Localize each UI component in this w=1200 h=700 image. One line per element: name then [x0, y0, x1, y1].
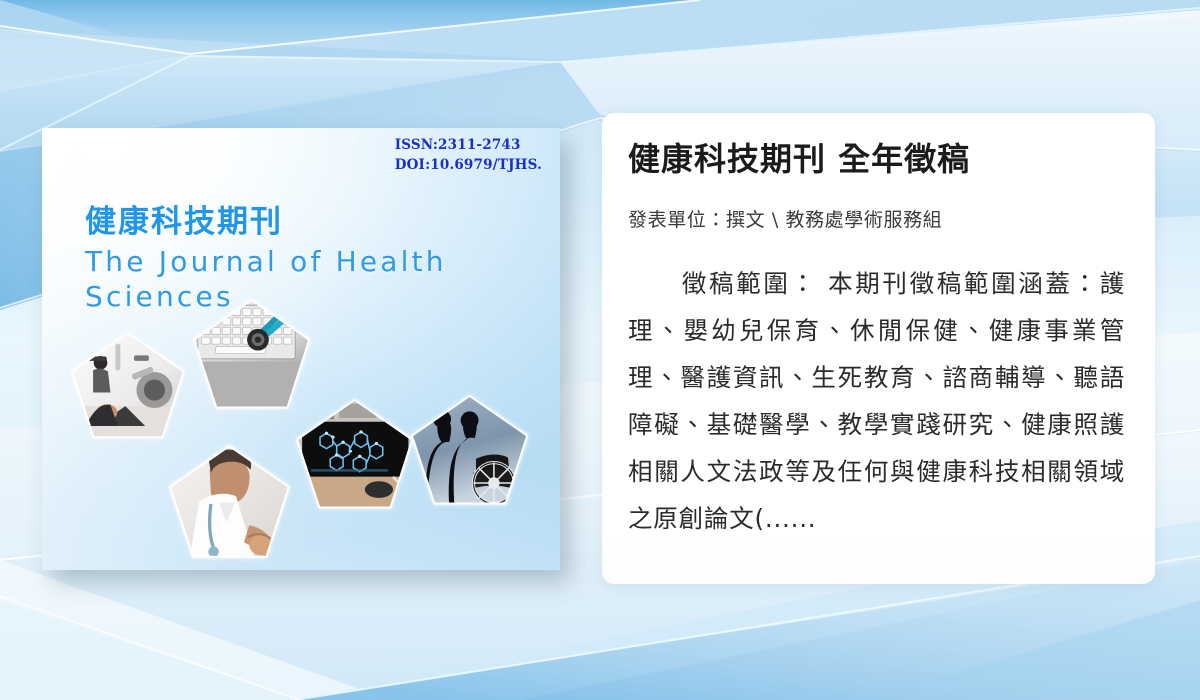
- journal-cover[interactable]: ISSN:2311-2743 DOI:10.6979/TJHS. 健康科技期刊 …: [42, 128, 560, 570]
- fitness-gym-photo: [72, 333, 184, 437]
- article-excerpt: 徵稿範圍： 本期刊徵稿範圍涵蓋：護理、嬰幼兒保育、休閒保健、健康事業管理、醫護資…: [628, 260, 1125, 542]
- article-panel: 健康科技期刊 全年徵稿 發表單位：撰文 \ 教務處學術服務組 徵稿範圍： 本期刊…: [602, 113, 1155, 584]
- page-title: 健康科技期刊 全年徵稿: [628, 139, 1125, 179]
- byline: 發表單位：撰文 \ 教務處學術服務組: [628, 207, 1125, 234]
- molecular-screen-photo: [297, 400, 412, 508]
- wheelchair-care-photo: [412, 396, 527, 504]
- journal-cover-canvas: ISSN:2311-2743 DOI:10.6979/TJHS. 健康科技期刊 …: [42, 128, 560, 570]
- nurse-infant-photo: [170, 446, 289, 557]
- keyboard-stethoscope-photo: [194, 300, 309, 408]
- cover-photo-collage: [42, 128, 560, 570]
- page-root: ISSN:2311-2743 DOI:10.6979/TJHS. 健康科技期刊 …: [0, 0, 1200, 700]
